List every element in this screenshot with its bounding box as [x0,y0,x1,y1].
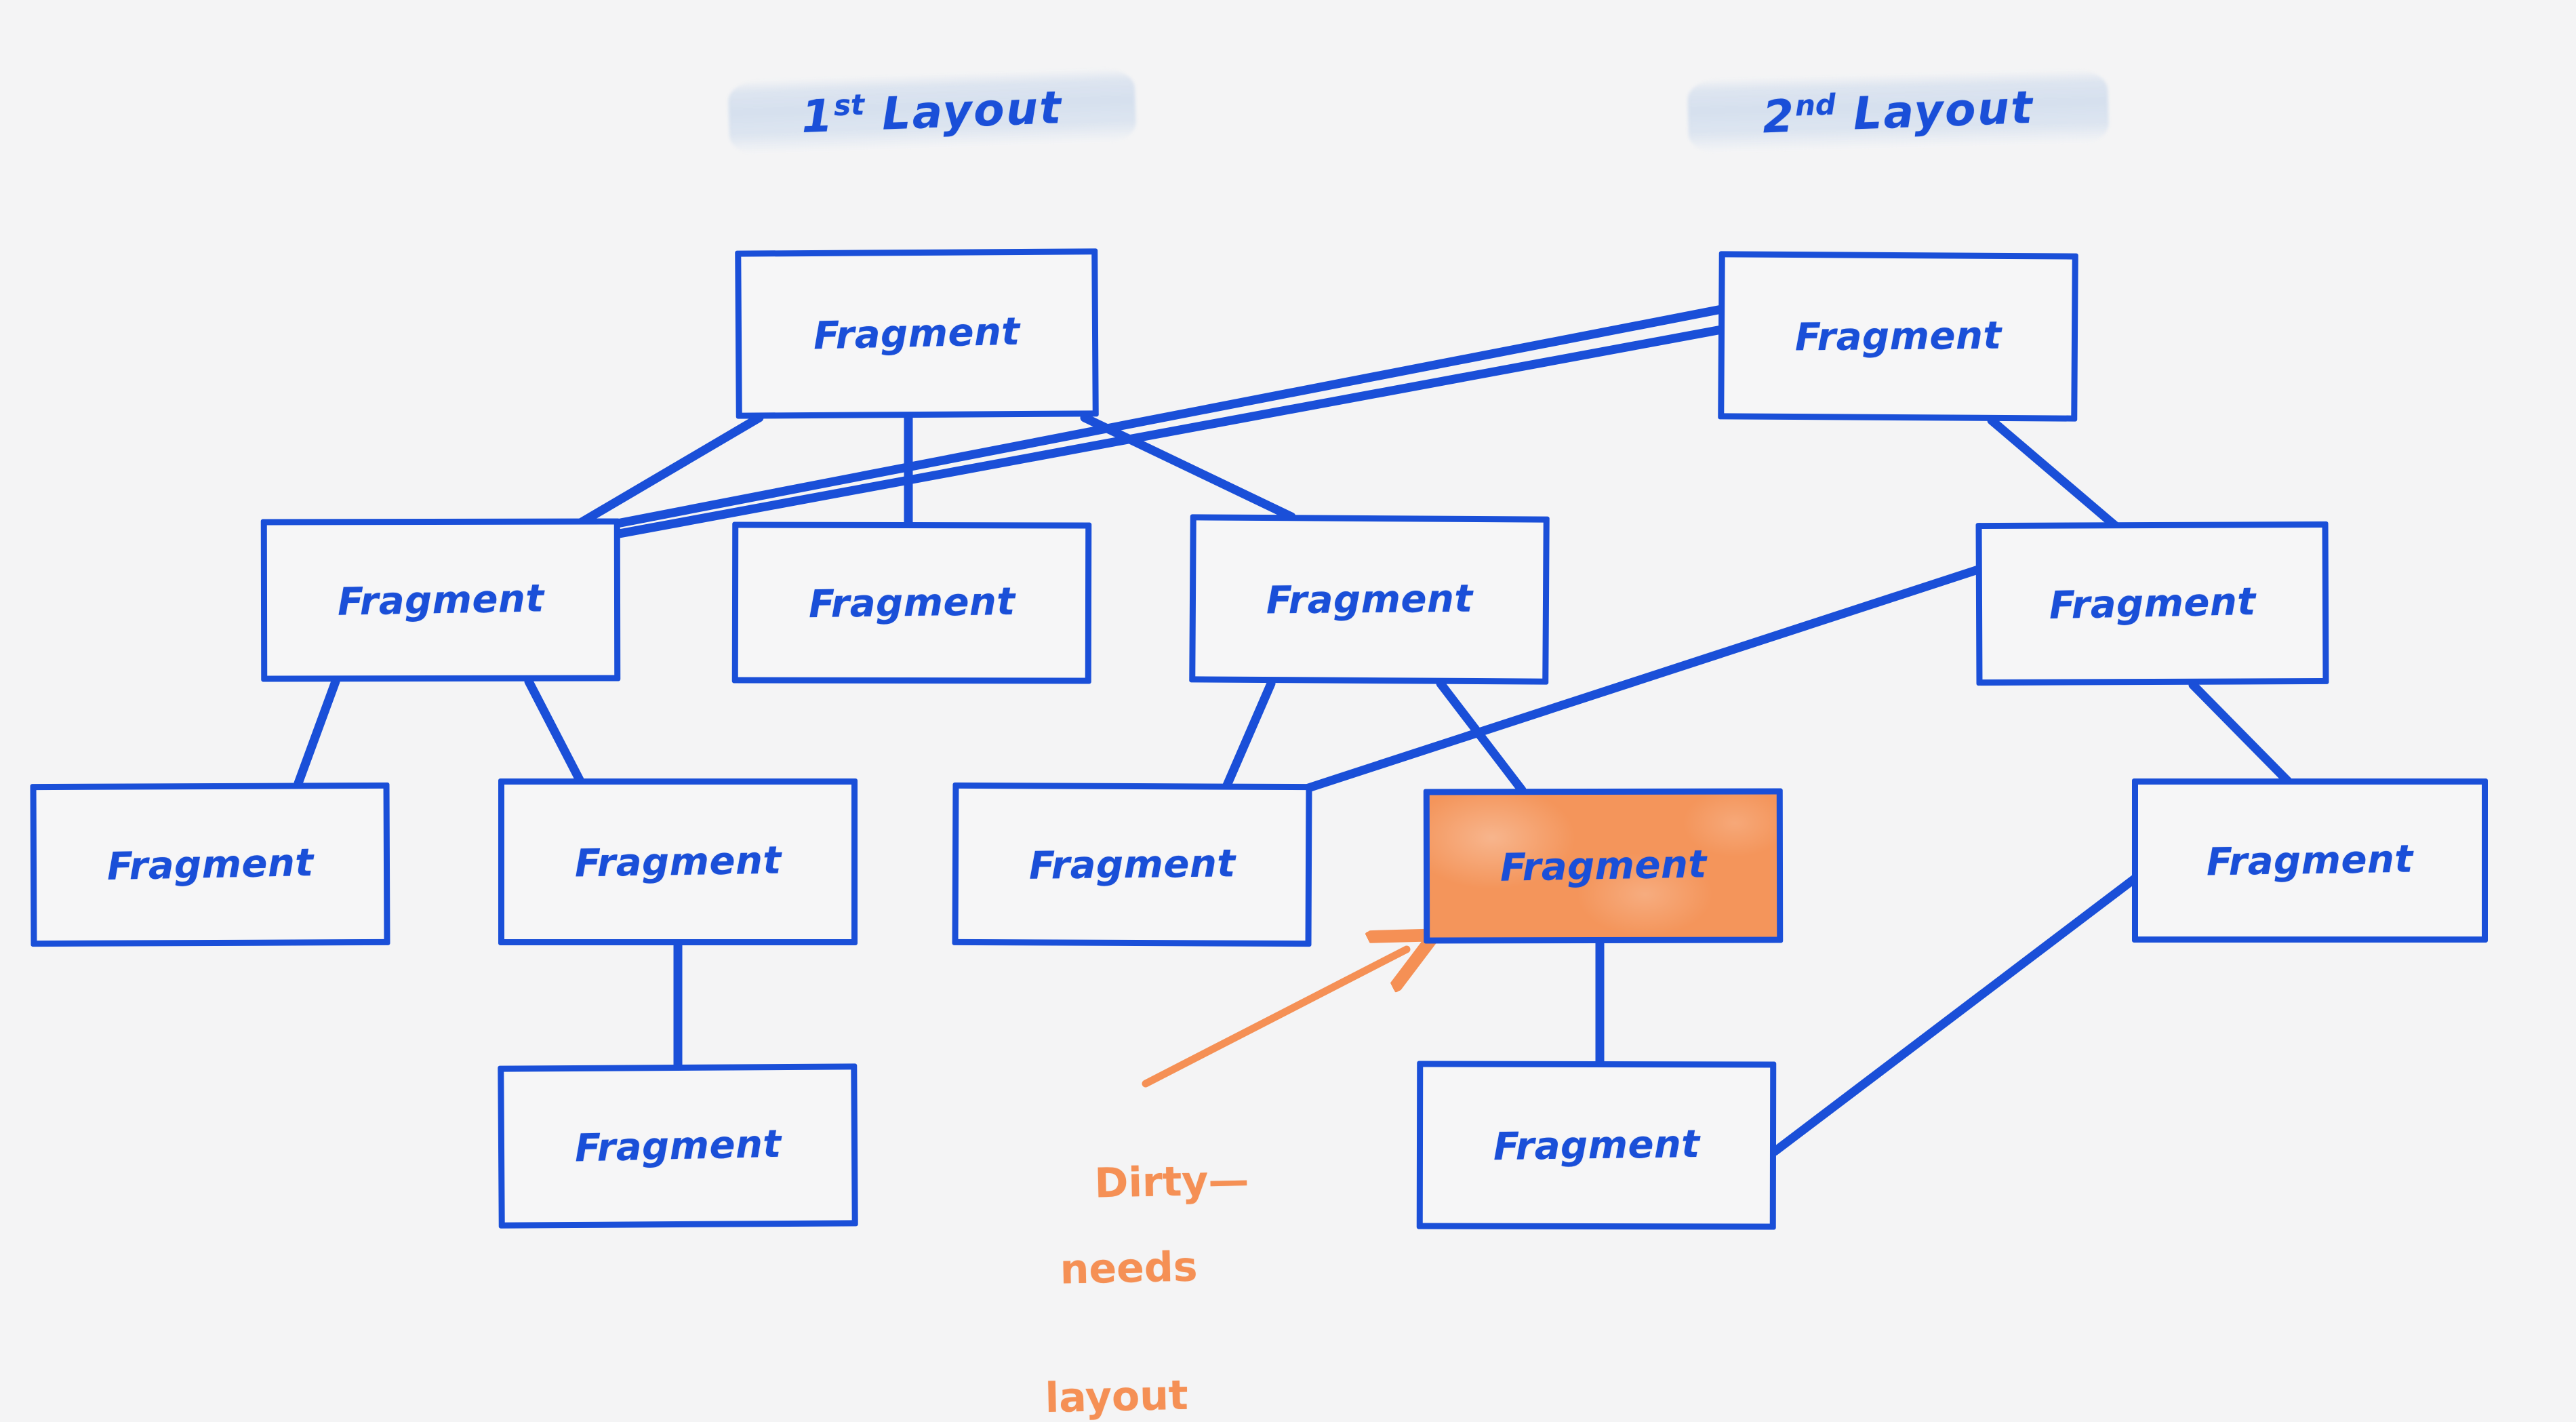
edge-n-l1-m3-to-n-l1-b3 [1227,684,1271,785]
edge-n-l1-root-to-n-l1-m3 [1085,418,1291,517]
fragment-node[interactable]: Fragment [1718,251,2078,421]
title-ordinal-suffix: st [833,88,865,123]
title-ordinal-suffix: nd [1794,87,1836,122]
title-word-layout: Layout [1835,81,2035,141]
fragment-node-label: Fragment [2049,579,2256,627]
edge-n-l1-root-to-n-l1-m1 [582,418,759,522]
fragment-node[interactable]: Fragment [735,248,1099,418]
title-label: 2nd Layout [1762,81,2035,144]
edge-n-l1-m1-to-n-l1-b1 [298,682,336,783]
title-ordinal-number: 1 [801,90,835,143]
fragment-node-label: Fragment [813,309,1021,358]
edge-n-l2-root-to-n-l2-mid [1992,420,2115,526]
fragment-node-label: Fragment [1028,842,1235,888]
fragment-node-label: Fragment [106,840,314,888]
fragment-node-label: Fragment [2207,837,2414,884]
title-ordinal-number: 2 [1762,90,1796,144]
fragment-node[interactable]: Fragment [732,521,1091,684]
title-word-layout: Layout [864,81,1064,141]
edge-n-l1-m1-to-n-l1-b2 [529,682,580,780]
fragment-node-dirty[interactable]: Fragment [1424,788,1783,943]
title-2nd-layout: 2nd Layout [1688,75,2108,149]
fragment-node-label: Fragment [1500,842,1707,890]
fragment-node-label: Fragment [808,579,1015,626]
annotation-line-2: needs [1039,1245,1251,1292]
fragment-node-label: Fragment [1493,1122,1699,1168]
fragment-node-label: Fragment [1266,576,1472,623]
edge-n-l2-leaf-to-n-dirty-ch [1775,878,2135,1151]
connection-lines-layer [0,0,2576,1422]
fragment-node[interactable]: Fragment [1417,1061,1777,1229]
fragment-node[interactable]: Fragment [498,778,858,945]
fragment-node-label: Fragment [574,838,782,886]
fragment-node[interactable]: Fragment [1975,521,2329,686]
annotation-line-3: layout [1042,1373,1254,1421]
dirty-needs-layout-annotation: Dirty— needs layout [1037,1117,1255,1422]
edge-n-l1-m3-to-n-dirty [1441,684,1522,790]
fragment-node[interactable]: Fragment [30,783,390,947]
edge-n-l2-root-to-n-l1-m1 [542,329,1725,548]
title-label: 1st Layout [801,81,1064,143]
title-1st-layout: 1st Layout [729,75,1135,149]
fragment-node-label: Fragment [337,576,544,624]
fragment-node[interactable]: Fragment [1189,514,1550,684]
fragment-node-label: Fragment [574,1122,782,1170]
edge-n-l2-mid-to-n-l2-leaf [2193,685,2288,781]
fragment-node-label: Fragment [1794,313,2001,359]
diagram-canvas: 1st Layout2nd Layout FragmentFragmentFra… [0,0,2576,1422]
annotation-arrow [1146,949,1407,1084]
fragment-node[interactable]: Fragment [952,783,1312,947]
fragment-node[interactable]: Fragment [2132,778,2488,943]
fragment-node[interactable]: Fragment [261,518,621,682]
fragment-node[interactable]: Fragment [498,1063,858,1228]
annotation-line-1: Dirty— [1094,1157,1249,1208]
